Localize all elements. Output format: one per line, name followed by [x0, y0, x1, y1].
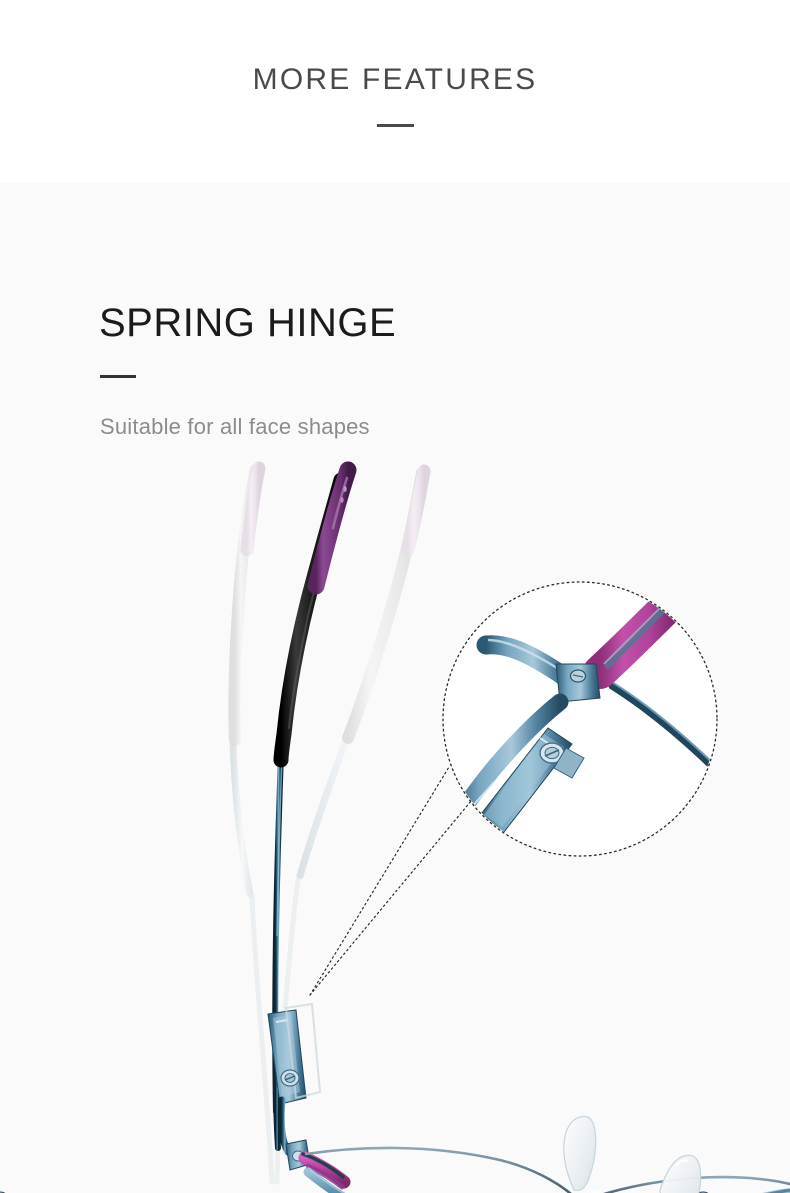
nose-pad-right — [0, 1155, 712, 1193]
product-illustration — [0, 182, 790, 1193]
hinge-screw — [281, 1070, 299, 1086]
callout-circle — [404, 582, 726, 876]
banner-title: MORE FEATURES — [0, 60, 790, 100]
banner-section: MORE FEATURES — [0, 0, 790, 182]
eyeglass-frame — [0, 1004, 790, 1193]
nose-pad-left — [556, 1115, 601, 1193]
ghost-arm-left — [232, 468, 272, 1182]
feature-page: MORE FEATURES SPRING HINGE Suitable for … — [0, 0, 790, 1193]
banner-divider — [377, 124, 414, 127]
